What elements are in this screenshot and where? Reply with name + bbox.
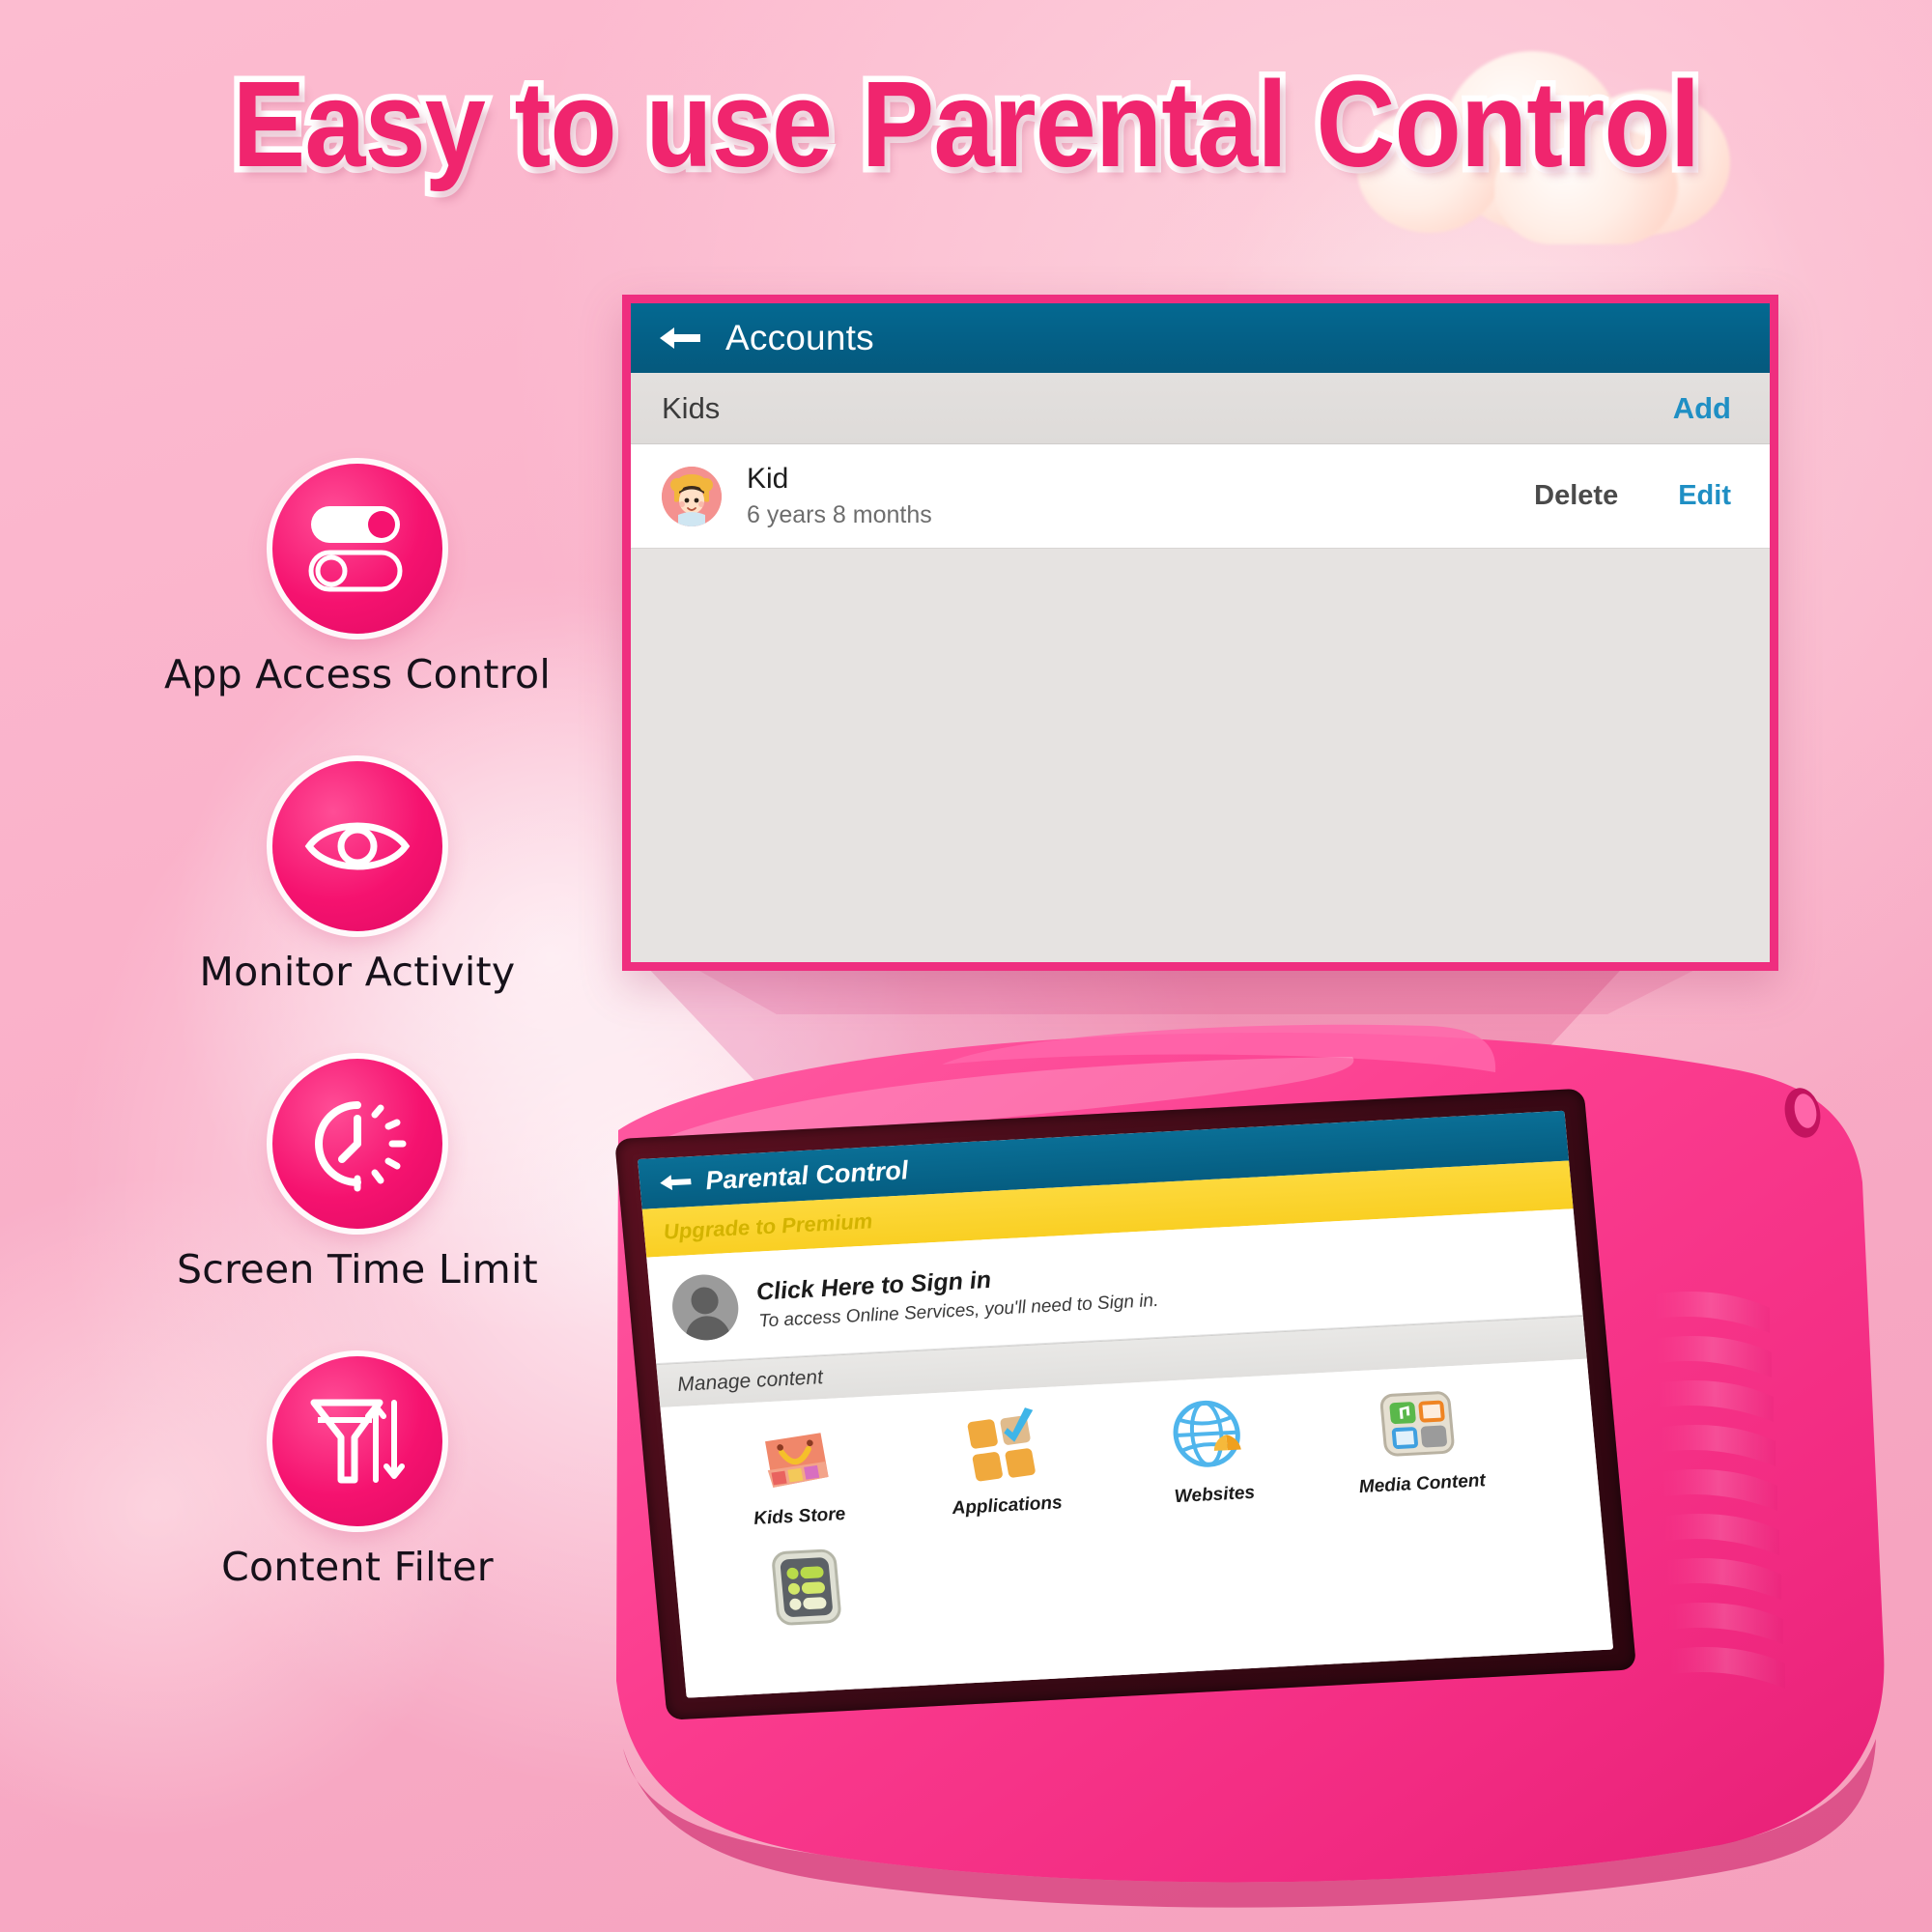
tile-kids-store[interactable]: Kids Store [687, 1408, 905, 1533]
kids-store-icon [687, 1408, 902, 1508]
pc-title: Parental Control [704, 1155, 910, 1196]
accounts-empty-body [631, 549, 1770, 964]
tile-list-settings[interactable] [698, 1538, 915, 1641]
accounts-title: Accounts [725, 318, 874, 358]
upgrade-banner-label: Upgrade to Premium [663, 1208, 874, 1244]
tile-media-content[interactable]: Media Content [1309, 1376, 1527, 1500]
toggle-switches-icon [272, 464, 442, 634]
signin-text: Click Here to Sign in To access Online S… [755, 1257, 1160, 1332]
parental-control-screen: Parental Control Upgrade to Premium Clic… [638, 1111, 1613, 1698]
applications-icon [894, 1398, 1109, 1497]
tablet-screen-area: Parental Control Upgrade to Premium Clic… [638, 1111, 1613, 1698]
kid-age: 6 years 8 months [747, 501, 1534, 529]
eye-icon [272, 761, 442, 931]
manage-content-grid: Kids Store Applications [660, 1359, 1613, 1698]
delete-button[interactable]: Delete [1534, 480, 1618, 512]
page-title: Easy to use Parental Control [97, 54, 1835, 194]
add-account-link[interactable]: Add [1673, 391, 1731, 426]
accounts-header: Accounts [631, 303, 1770, 373]
funnel-filter-icon [272, 1356, 442, 1526]
kids-section-label: Kids [662, 391, 720, 426]
feature-app-access-control[interactable]: App Access Control [145, 464, 570, 697]
table-row[interactable]: Kid 6 years 8 months Delete Edit [631, 444, 1770, 549]
kid-avatar-icon [662, 467, 722, 526]
manage-content-label: Manage content [676, 1366, 824, 1397]
feature-label: App Access Control [145, 651, 570, 697]
edit-button[interactable]: Edit [1678, 480, 1731, 512]
feature-monitor-activity[interactable]: Monitor Activity [145, 761, 570, 995]
tablet-device: Parental Control Upgrade to Premium Clic… [502, 976, 1932, 1932]
kids-section-header: Kids Add [631, 373, 1770, 444]
list-settings-icon [698, 1538, 914, 1637]
tile-applications[interactable]: Applications [894, 1398, 1112, 1522]
accounts-screenshot-panel: Accounts Kids Add Kid 6 years [622, 295, 1778, 971]
kid-info: Kid 6 years 8 months [747, 463, 1534, 529]
websites-globe-icon [1101, 1387, 1317, 1487]
back-arrow-icon[interactable] [658, 1171, 693, 1194]
row-actions: Delete Edit [1534, 480, 1731, 512]
tile-websites[interactable]: Websites [1101, 1387, 1320, 1512]
user-avatar-icon [669, 1273, 741, 1342]
timer-icon [272, 1059, 442, 1229]
kid-name: Kid [747, 463, 1534, 496]
media-content-icon [1309, 1376, 1524, 1475]
back-arrow-icon[interactable] [658, 324, 702, 353]
